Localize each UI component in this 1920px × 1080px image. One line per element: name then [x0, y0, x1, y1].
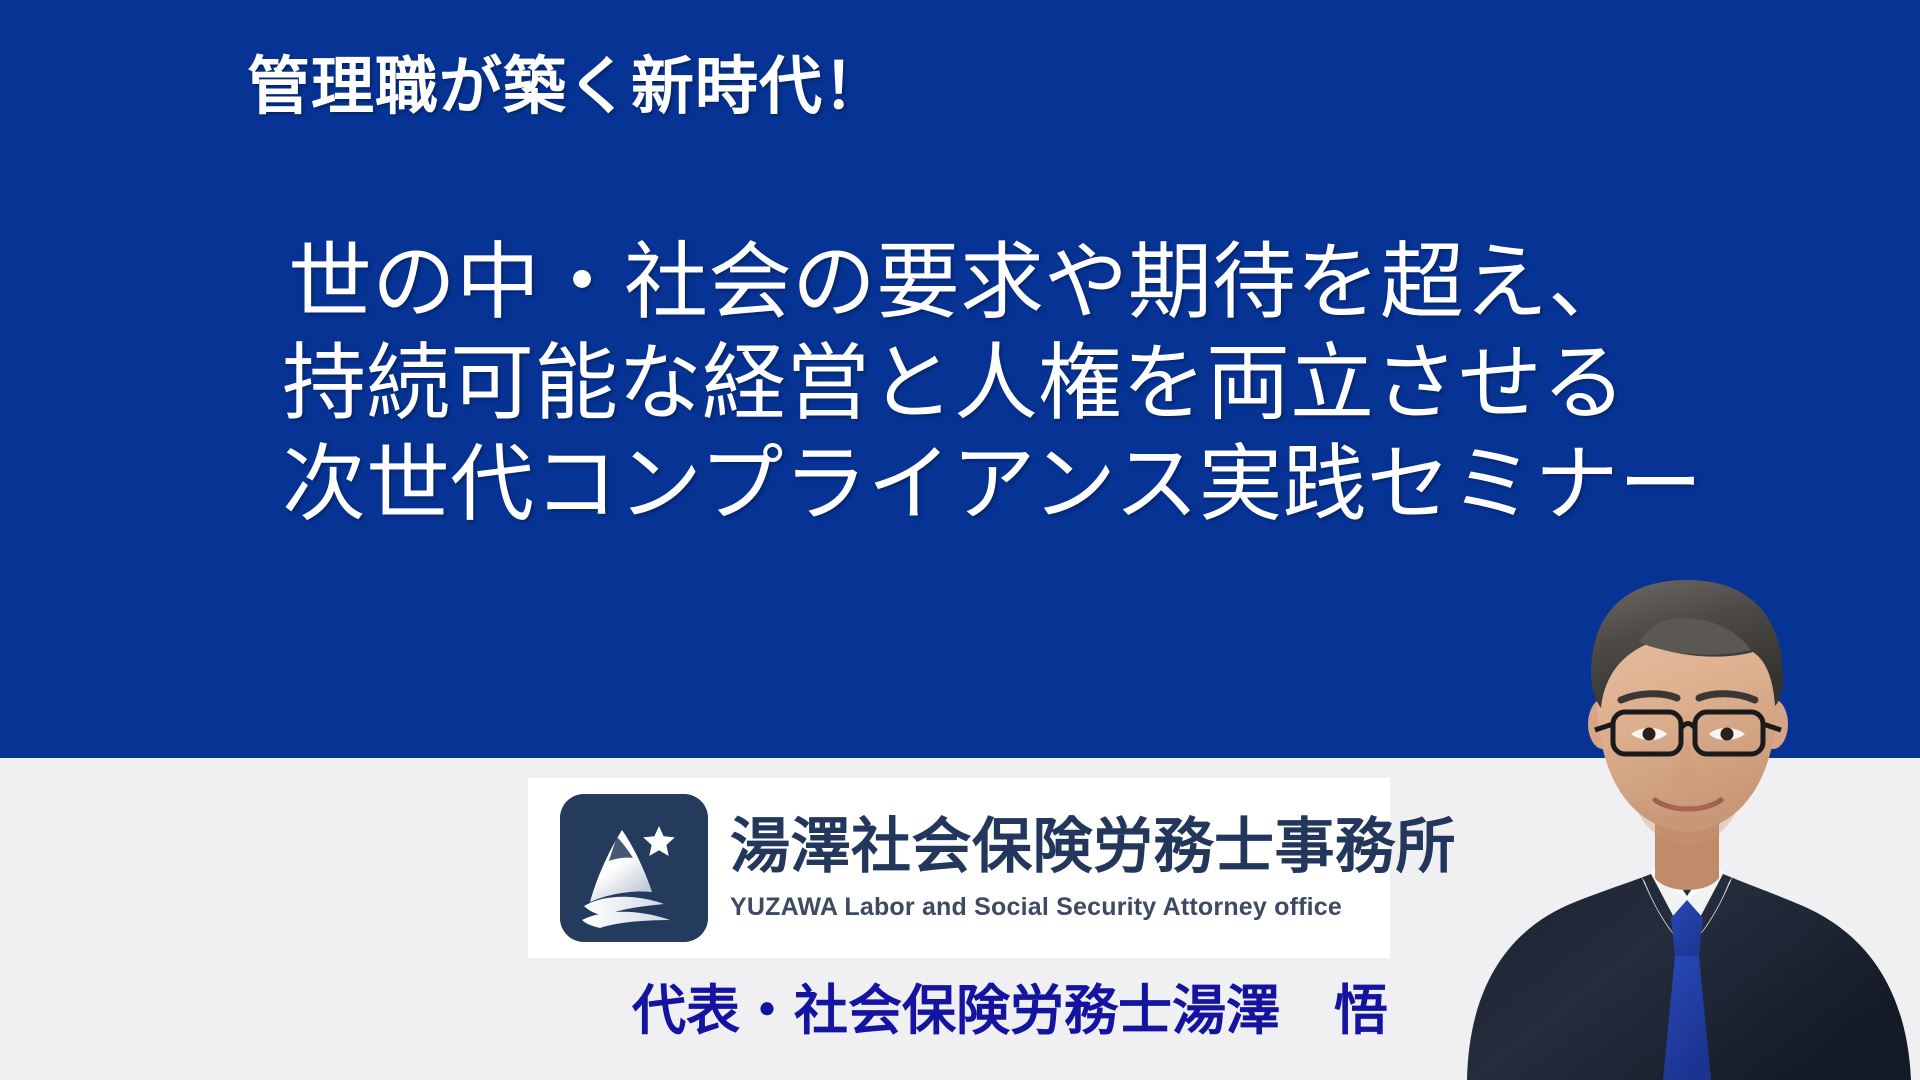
title-line-3: 次世代コンプライアンス実践セミナー [288, 434, 1658, 535]
title-line-2: 持続可能な経営と人権を両立させる [288, 333, 1658, 434]
headline-text: 管理職が築く新時代！ [247, 52, 887, 123]
title-line-1: 世の中・社会の要求や期待を超え、 [288, 232, 1658, 333]
office-logo-text: 湯澤社会保険労務士事務所 YUZAWA Labor and Social Sec… [730, 813, 1456, 923]
presenter-name: 代表・社会保険労務士湯澤 悟 [632, 966, 1388, 1045]
main-title-block: 世の中・社会の要求や期待を超え、 持続可能な経営と人権を両立させる 次世代コンプ… [288, 232, 1658, 534]
seminar-slide: 管理職が築く新時代！ 世の中・社会の要求や期待を超え、 持続可能な経営と人権を両… [0, 0, 1920, 1080]
speaker-portrait [1455, 556, 1920, 1080]
sail-star-mark-icon [560, 794, 708, 942]
office-name-en: YUZAWA Labor and Social Security Attorne… [730, 892, 1456, 923]
office-name-jp: 湯澤社会保険労務士事務所 [730, 813, 1456, 880]
office-logo-card: 湯澤社会保険労務士事務所 YUZAWA Labor and Social Sec… [528, 778, 1390, 958]
